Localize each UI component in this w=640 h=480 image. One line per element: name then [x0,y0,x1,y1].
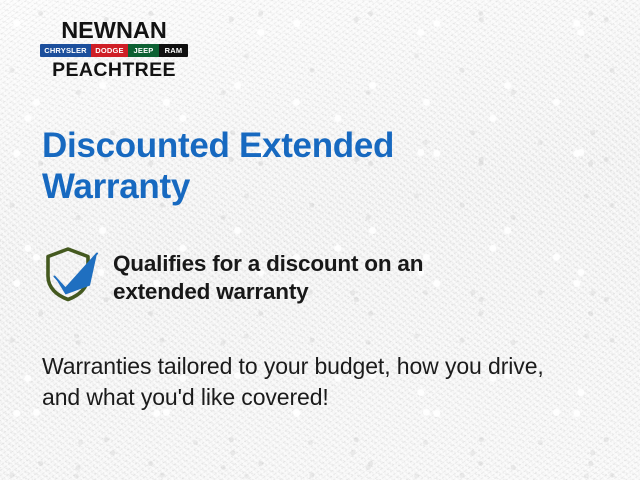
brand-badge-ram: RAM [159,44,188,57]
feature-row: Qualifies for a discount on an extended … [42,243,522,307]
brand-badge-strip: CHRYSLER DODGE JEEP RAM [40,44,188,57]
brand-badge-jeep: JEEP [128,44,159,57]
shield-check-icon [42,245,100,305]
feature-label: Qualifies for a discount on an extended … [113,243,522,307]
brand-badge-chrysler: CHRYSLER [40,44,91,57]
logo-peachtree-wordmark: PEACHTREE [40,61,188,81]
brand-badge-dodge: DODGE [91,44,128,57]
promo-slide: NEWNAN CHRYSLER DODGE JEEP RAM PEACHTREE… [0,0,640,480]
dealership-logo: NEWNAN CHRYSLER DODGE JEEP RAM PEACHTREE [40,19,188,81]
logo-newnan-wordmark: NEWNAN [39,19,190,42]
logo-newnan-text: NEWNAN [61,17,167,43]
body-paragraph: Warranties tailored to your budget, how … [42,351,582,413]
page-title: Discounted Extended Warranty [42,126,462,207]
